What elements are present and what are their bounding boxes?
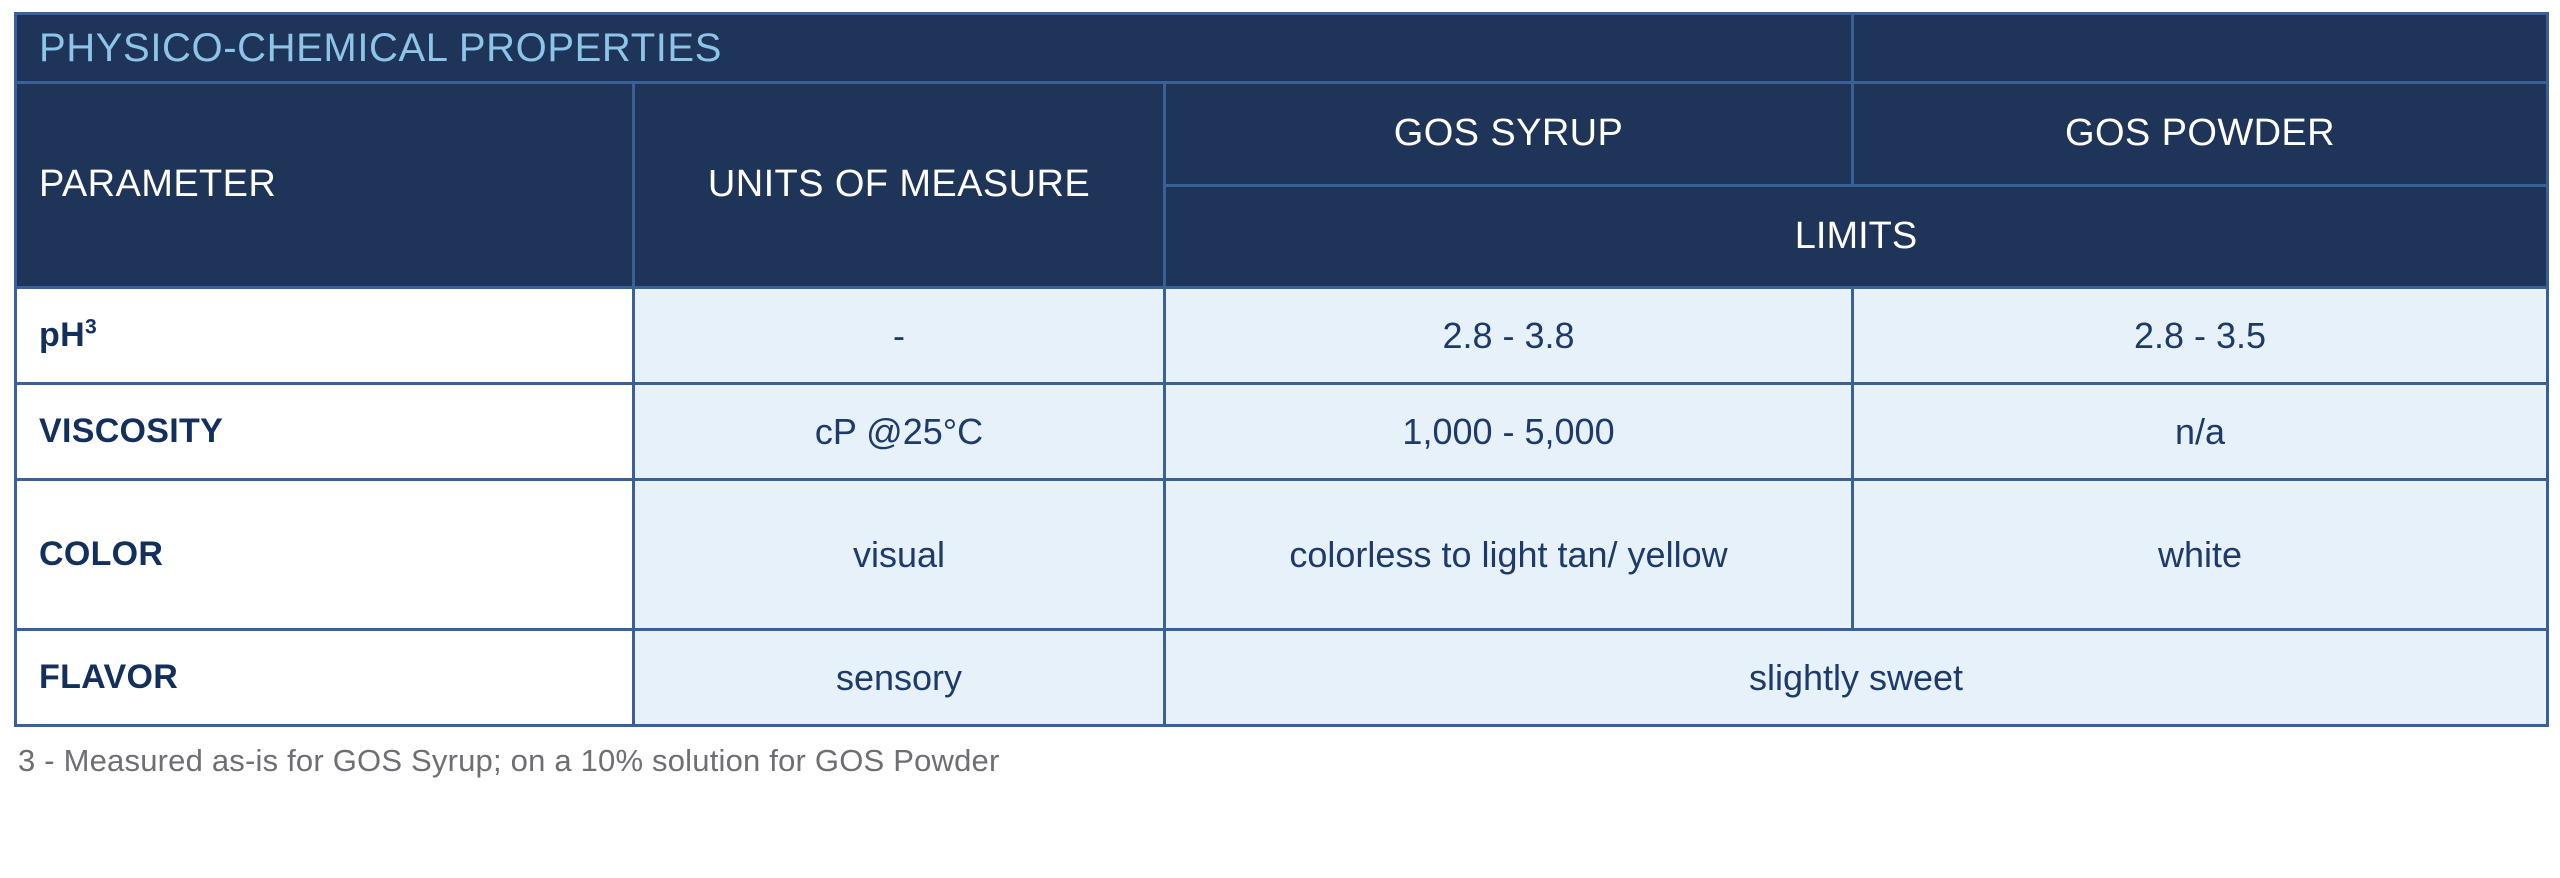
- row-gos-syrup-color: colorless to light tan/ yellow: [1165, 480, 1853, 630]
- table-row: pH3 - 2.8 - 3.8 2.8 - 3.5: [16, 288, 2548, 384]
- row-gos-powder-color: white: [1853, 480, 2548, 630]
- table-row: FLAVOR sensory slightly sweet: [16, 630, 2548, 726]
- header-parameter: PARAMETER: [16, 83, 634, 288]
- table-title-cell: PHYSICO-CHEMICAL PROPERTIES: [16, 14, 1853, 83]
- row-gos-syrup-ph: 2.8 - 3.8: [1165, 288, 1853, 384]
- table-row: COLOR visual colorless to light tan/ yel…: [16, 480, 2548, 630]
- page-root: PHYSICO-CHEMICAL PROPERTIES PARAMETER UN…: [0, 0, 2560, 878]
- table-title: PHYSICO-CHEMICAL PROPERTIES: [39, 26, 722, 70]
- row-parameter-color: COLOR: [16, 480, 634, 630]
- physico-chemical-properties-table: PHYSICO-CHEMICAL PROPERTIES PARAMETER UN…: [14, 12, 2549, 727]
- row-units-viscosity: cP @25°C: [634, 384, 1165, 480]
- table-footnote: 3 - Measured as-is for GOS Syrup; on a 1…: [14, 743, 2546, 779]
- parameter-label: pH: [39, 316, 85, 354]
- row-units-flavor: sensory: [634, 630, 1165, 726]
- header-units-of-measure: UNITS OF MEASURE: [634, 83, 1165, 288]
- header-row-primary: PARAMETER UNITS OF MEASURE GOS SYRUP GOS…: [16, 83, 2548, 186]
- row-units-color: visual: [634, 480, 1165, 630]
- row-units-ph: -: [634, 288, 1165, 384]
- header-gos-powder: GOS POWDER: [1853, 83, 2548, 186]
- row-parameter-ph: pH3: [16, 288, 634, 384]
- row-parameter-viscosity: VISCOSITY: [16, 384, 634, 480]
- table-title-spacer-cell: [1853, 14, 2548, 83]
- row-gos-syrup-viscosity: 1,000 - 5,000: [1165, 384, 1853, 480]
- table-title-row: PHYSICO-CHEMICAL PROPERTIES: [16, 14, 2548, 83]
- header-gos-syrup: GOS SYRUP: [1165, 83, 1853, 186]
- row-limits-flavor-merged: slightly sweet: [1165, 630, 2548, 726]
- header-limits: LIMITS: [1165, 185, 2548, 288]
- row-parameter-flavor: FLAVOR: [16, 630, 634, 726]
- parameter-footnote-marker: 3: [85, 316, 97, 339]
- table-row: VISCOSITY cP @25°C 1,000 - 5,000 n/a: [16, 384, 2548, 480]
- row-gos-powder-viscosity: n/a: [1853, 384, 2548, 480]
- row-gos-powder-ph: 2.8 - 3.5: [1853, 288, 2548, 384]
